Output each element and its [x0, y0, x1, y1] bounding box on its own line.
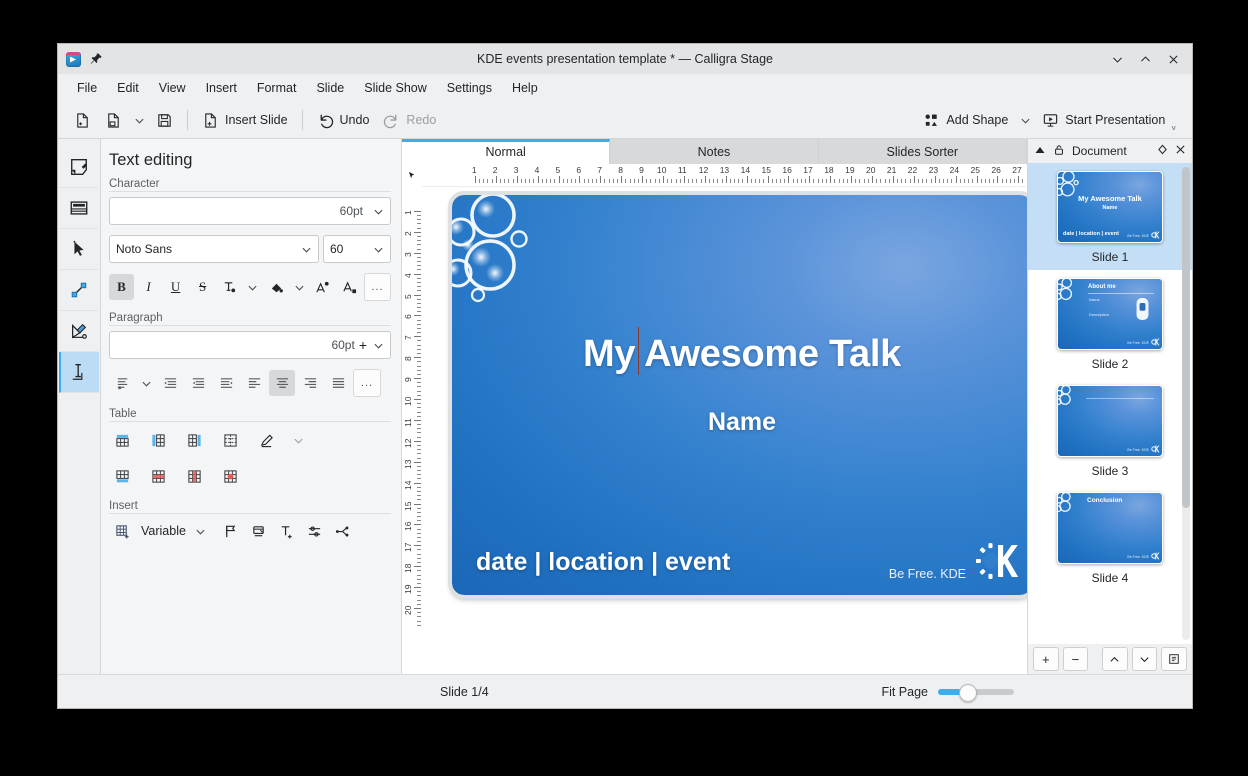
bold-button[interactable]: B [109, 274, 134, 300]
slide-thumbnail-image-4: Conclusion Be Free. KDE [1057, 492, 1163, 564]
font-family-combo[interactable]: Noto Sans [109, 235, 319, 263]
list-style-dropdown[interactable] [137, 370, 155, 396]
italic-button[interactable]: I [136, 274, 161, 300]
connection-tool-icon[interactable] [60, 270, 98, 311]
float-icon[interactable] [1157, 144, 1168, 158]
slide-thumbnail-label-1: Slide 1 [1092, 250, 1129, 264]
character-size-value: 60pt [340, 204, 363, 218]
strikethrough-button[interactable]: S [190, 274, 215, 300]
menu-view[interactable]: View [150, 77, 195, 99]
menu-slide-show[interactable]: Slide Show [355, 77, 436, 99]
window-title: KDE events presentation template * — Cal… [58, 52, 1192, 66]
align-justify-button[interactable] [325, 370, 351, 396]
font-size-combo[interactable]: 60 [323, 235, 391, 263]
insert-special-character-icon[interactable] [274, 518, 300, 544]
thumb2-title: About me [1088, 284, 1116, 290]
align-center-button[interactable] [269, 370, 295, 396]
thumbnail-scrollbar[interactable] [1182, 167, 1190, 640]
slide-subtitle-text[interactable]: Name [452, 408, 1027, 437]
thumb2-tagline: Be Free. KDE [1127, 341, 1149, 345]
menubar: File Edit View Insert Format Slide Slide… [58, 74, 1192, 102]
thumb2-line1: Name [1089, 297, 1100, 302]
align-left-button[interactable] [241, 370, 267, 396]
slide-thumbnail-label-2: Slide 2 [1092, 357, 1129, 371]
insert-footnote-icon[interactable] [246, 518, 272, 544]
text-caret [638, 327, 639, 375]
decrease-indent-button[interactable] [157, 370, 183, 396]
delete-column-icon[interactable] [181, 463, 207, 489]
redo-label: Redo [406, 113, 436, 127]
main-toolbar: Insert Slide Undo Redo Add Shape Start P… [58, 102, 1192, 139]
start-presentation-dropdown[interactable]: ˅ [1171, 124, 1176, 133]
center-area: Normal Notes Slides Sorter 1234567891011… [402, 139, 1027, 674]
insert-slide-button[interactable]: Insert Slide [196, 108, 294, 133]
menu-help[interactable]: Help [503, 77, 547, 99]
text-editing-docker: Text editing Character 60pt Noto Sans 60 [101, 139, 402, 674]
background-color-dropdown[interactable] [291, 274, 308, 300]
menu-insert[interactable]: Insert [197, 77, 246, 99]
zoom-slider[interactable] [938, 689, 1014, 695]
add-shape-button[interactable]: Add Shape [917, 108, 1014, 133]
slide-thumbnail-1[interactable]: My Awesome Talk Name date | location | e… [1028, 163, 1192, 270]
table-border-dropdown[interactable] [289, 427, 307, 453]
new-document-button[interactable] [68, 108, 97, 133]
open-document-button[interactable] [99, 108, 128, 133]
thumb2-line2: Description [1089, 312, 1109, 317]
font-family-value: Noto Sans [116, 242, 301, 256]
tool-rail [58, 139, 101, 674]
maximize-button[interactable] [1138, 52, 1152, 66]
slide-tagline-text: Be Free. KDE [889, 567, 966, 581]
align-right-button[interactable] [297, 370, 323, 396]
character-style-combo[interactable]: 60pt [109, 197, 391, 225]
save-document-button[interactable] [150, 108, 179, 133]
thumb1-subtitle: Name [1058, 205, 1162, 211]
main-body: Text editing Character 60pt Noto Sans 60 [58, 139, 1192, 674]
calligra-stage-icon [66, 52, 81, 67]
insert-column-left-icon[interactable] [145, 427, 171, 453]
menu-settings[interactable]: Settings [438, 77, 501, 99]
slide-thumbnail-3[interactable]: Be Free. KDE Slide 3 [1028, 377, 1192, 484]
slide-thumbnail-4[interactable]: Conclusion Be Free. KDE Slide 4 [1028, 484, 1192, 591]
document-docker-title: Document [1072, 144, 1127, 158]
slides-thumbnail-list[interactable]: My Awesome Talk Name date | location | e… [1028, 163, 1192, 644]
thumb1-tagline: Be Free. KDE [1127, 234, 1149, 238]
view-tabs: Normal Notes Slides Sorter [402, 139, 1027, 164]
calligra-stage-window: KDE events presentation template * — Cal… [58, 44, 1192, 708]
insert-row-below-icon[interactable] [109, 463, 135, 489]
paragraph-more-button[interactable]: ... [353, 369, 381, 397]
insert-group-label: Insert [101, 494, 401, 514]
bubble-decoration-icon [452, 195, 568, 317]
merge-cells-icon[interactable] [217, 427, 243, 453]
character-more-button[interactable]: ... [364, 273, 391, 301]
subscript-button[interactable] [337, 274, 362, 300]
tab-slides-sorter[interactable]: Slides Sorter [819, 139, 1027, 164]
insert-variable-label[interactable]: Variable [137, 524, 190, 538]
slide-canvas[interactable]: My Awesome Talk Name date | location | e… [422, 187, 1027, 674]
undo-label: Undo [340, 113, 370, 127]
delete-table-icon[interactable] [217, 463, 243, 489]
insert-table-icon[interactable] [109, 518, 135, 544]
docker-title: Text editing [101, 139, 401, 172]
close-icon[interactable] [1175, 144, 1186, 158]
thumb3-tagline: Be Free. KDE [1127, 448, 1149, 452]
pin-icon[interactable] [89, 52, 103, 66]
thumb4-title: Conclusion [1087, 497, 1122, 504]
titlebar: KDE events presentation template * — Cal… [58, 44, 1192, 74]
text-color-dropdown[interactable] [244, 274, 261, 300]
toolbar-separator [187, 110, 188, 130]
remove-slide-button[interactable]: − [1063, 647, 1089, 671]
slide-1[interactable]: My Awesome Talk Name date | location | e… [452, 195, 1027, 595]
delete-row-icon[interactable] [145, 463, 171, 489]
insert-column-right-icon[interactable] [181, 427, 207, 453]
slide-title-text[interactable]: My Awesome Talk [452, 333, 1027, 376]
ruler-corner [402, 164, 422, 186]
start-presentation-button[interactable]: Start Presentation ˅ [1036, 108, 1182, 133]
thumb1-title: My Awesome Talk [1058, 194, 1162, 203]
slide-thumbnail-image-2: About me Name Description Be Free. KDE [1057, 278, 1163, 350]
underline-button[interactable]: U [163, 274, 188, 300]
select-arrow-icon[interactable] [60, 229, 98, 270]
undo-button[interactable]: Undo [311, 108, 376, 133]
table-border-pen-icon[interactable] [253, 427, 279, 453]
move-slide-down-button[interactable] [1132, 647, 1158, 671]
character-group-label: Character [101, 172, 401, 192]
slide-thumbnail-2[interactable]: About me Name Description Be Free. KDE S… [1028, 270, 1192, 377]
status-bar: Slide 1/4 Fit Page [58, 674, 1192, 708]
insert-annotation-icon[interactable] [302, 518, 328, 544]
slide-thumbnail-image-1: My Awesome Talk Name date | location | e… [1057, 171, 1163, 243]
path-edit-tool-icon[interactable] [60, 311, 98, 352]
minimize-button[interactable] [1110, 52, 1124, 66]
add-shape-label: Add Shape [946, 113, 1008, 127]
vertical-ruler[interactable]: 1234567891011121314151617181920 [402, 187, 422, 674]
change-indent-button[interactable] [213, 370, 239, 396]
background-color-button[interactable] [263, 274, 288, 300]
zoom-mode-label[interactable]: Fit Page [881, 685, 928, 699]
slide-options-button[interactable] [1161, 647, 1187, 671]
text-color-button[interactable] [217, 274, 242, 300]
menu-edit[interactable]: Edit [108, 77, 148, 99]
font-size-value: 60 [330, 242, 373, 256]
slide-thumbnail-image-3: Be Free. KDE [1057, 385, 1163, 457]
thumb4-tagline: Be Free. KDE [1127, 555, 1149, 559]
document-docker: Document My Awesome Talk Name date | loc… [1027, 139, 1192, 674]
slides-layout-icon[interactable] [60, 188, 98, 229]
slide-thumbnail-label-3: Slide 3 [1092, 464, 1129, 478]
menu-slide[interactable]: Slide [307, 77, 353, 99]
horizontal-ruler[interactable]: 1234567891011121314151617181920212223242… [422, 164, 1027, 187]
insert-row-above-icon[interactable] [109, 427, 135, 453]
document-docker-header: Document [1028, 139, 1192, 163]
superscript-button[interactable] [310, 274, 335, 300]
menu-format[interactable]: Format [248, 77, 306, 99]
redo-button: Redo [377, 108, 442, 133]
menu-file[interactable]: File [68, 77, 106, 99]
slide-footer-text[interactable]: date | location | event [476, 548, 730, 577]
slide-frame[interactable]: My Awesome Talk Name date | location | e… [452, 195, 1027, 595]
tab-notes[interactable]: Notes [610, 139, 818, 164]
paragraph-group-label: Paragraph [101, 306, 401, 326]
start-presentation-label: Start Presentation [1065, 113, 1165, 127]
move-slide-up-button[interactable] [1102, 647, 1128, 671]
insert-slide-label: Insert Slide [225, 113, 288, 127]
slide-thumbnail-label-4: Slide 4 [1092, 571, 1129, 585]
collapse-up-icon[interactable] [1034, 144, 1046, 159]
insert-variable-dropdown[interactable] [192, 518, 210, 544]
list-style-button[interactable] [109, 370, 135, 396]
default-tool-icon[interactable] [60, 147, 98, 188]
tab-normal[interactable]: Normal [402, 139, 610, 164]
paragraph-spacing-value: 60pt [331, 338, 354, 352]
add-slide-button[interactable]: + [1033, 647, 1059, 671]
table-group-label: Table [101, 402, 401, 422]
paragraph-spacing-combo[interactable]: 60pt + [109, 331, 391, 359]
increase-indent-button[interactable] [185, 370, 211, 396]
add-shape-dropdown[interactable] [1016, 107, 1034, 133]
close-button[interactable] [1166, 52, 1180, 66]
slide-actions-bar: + − [1028, 644, 1192, 674]
thumb1-footer: date | location | event [1063, 231, 1119, 237]
text-tool-icon[interactable] [59, 352, 99, 393]
lock-icon[interactable] [1053, 144, 1065, 159]
kde-logo-icon [976, 539, 1020, 583]
slide-counter: Slide 1/4 [440, 685, 489, 699]
insert-link-icon[interactable] [330, 518, 356, 544]
insert-bookmark-icon[interactable] [218, 518, 244, 544]
toolbar-separator-2 [302, 110, 303, 130]
open-document-dropdown[interactable] [130, 107, 148, 133]
